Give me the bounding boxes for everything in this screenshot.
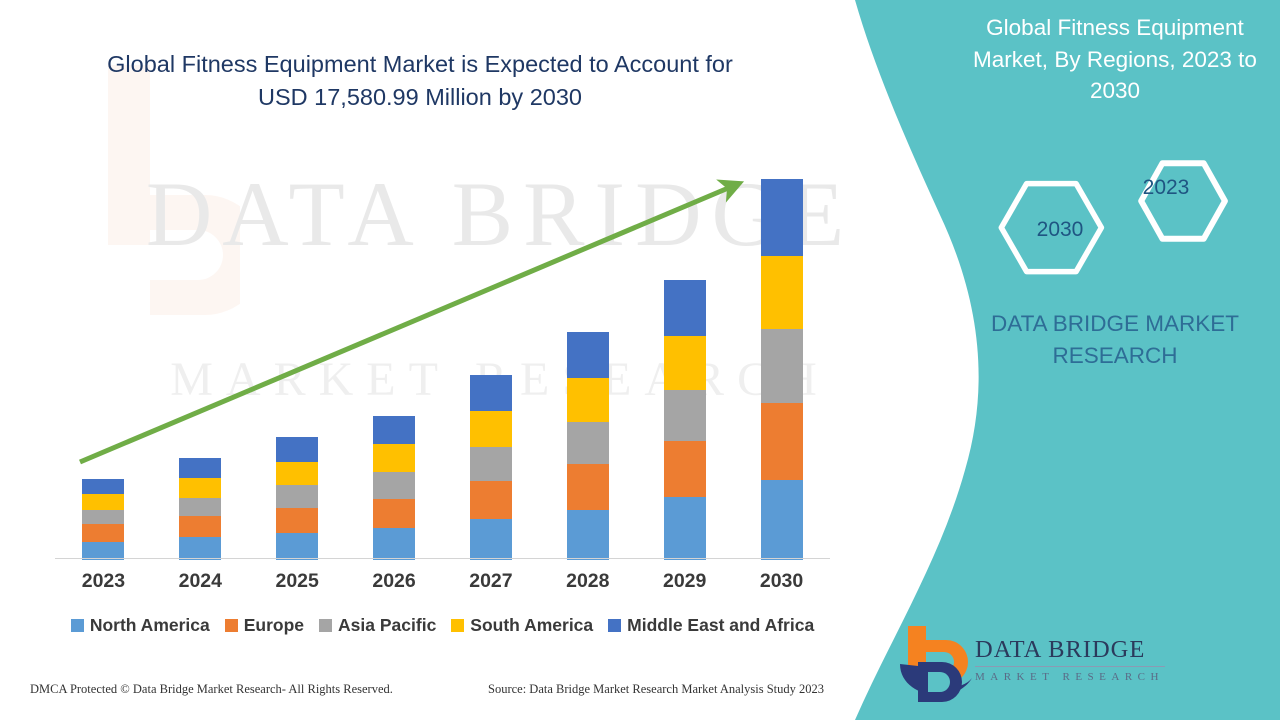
brand-name: DATA BRIDGE MARKET RESEARCH [960,308,1270,372]
bar-segment [276,485,318,508]
hexagon-outlines [960,150,1270,290]
x-axis-label-2026: 2026 [364,570,424,593]
logo-text-block: DATA BRIDGE MARKET RESEARCH [975,636,1195,683]
bar-segment [179,516,221,538]
bar-2023 [82,479,124,560]
legend-item[interactable]: Asia Pacific [319,615,436,636]
bar-2028 [567,332,609,560]
hexagon-label-2023: 2023 [1128,176,1204,200]
hexagon-label-2030: 2030 [1022,218,1098,242]
bar-segment [470,481,512,519]
bar-segment [567,464,609,510]
bar-segment [82,524,124,541]
bar-segment [761,403,803,480]
x-axis-line [55,558,830,559]
plot-area [55,150,830,560]
x-axis-labels: 20232024202520262027202820292030 [55,570,830,604]
x-axis-label-2027: 2027 [461,570,521,593]
bar-2025 [276,437,318,560]
bar-segment [276,533,318,560]
x-axis-label-2024: 2024 [170,570,230,593]
x-axis-label-2030: 2030 [752,570,812,593]
bar-segment [82,479,124,494]
footer: DMCA Protected © Data Bridge Market Rese… [0,682,880,706]
right-panel-content: Global Fitness Equipment Market, By Regi… [950,0,1280,720]
panel-title: Global Fitness Equipment Market, By Regi… [960,12,1270,107]
bar-segment [470,375,512,412]
bar-segment [761,329,803,403]
bar-2027 [470,375,512,561]
legend-item[interactable]: South America [451,615,593,636]
legend-item[interactable]: Middle East and Africa [608,615,814,636]
bar-segment [373,416,415,445]
logo-subtitle: MARKET RESEARCH [975,671,1195,683]
bar-segment [761,480,803,560]
legend-swatch-icon [71,619,84,632]
bar-2029 [664,280,706,560]
chart-legend: North AmericaEuropeAsia PacificSouth Ame… [55,615,830,636]
bar-segment [179,498,221,516]
footer-source: Source: Data Bridge Market Research Mark… [488,682,824,697]
bar-segment [179,537,221,560]
bar-2024 [179,458,221,560]
bar-segment [373,499,415,529]
footer-copyright: DMCA Protected © Data Bridge Market Rese… [30,682,393,697]
bar-segment [82,510,124,524]
bar-segment [276,462,318,486]
bar-segment [761,256,803,330]
data-bridge-logo: DATA BRIDGE MARKET RESEARCH [890,620,1190,710]
bar-segment [82,494,124,509]
x-axis-label-2025: 2025 [267,570,327,593]
bar-segment [276,437,318,462]
bar-segment [373,444,415,472]
x-axis-label-2029: 2029 [655,570,715,593]
hexagon-2023 [1141,163,1225,239]
year-hexagons: 2023 2030 [960,150,1270,290]
legend-swatch-icon [451,619,464,632]
bar-segment [470,519,512,560]
legend-label: Middle East and Africa [627,615,814,636]
bar-segment [470,411,512,447]
x-axis-label-2023: 2023 [73,570,133,593]
bar-2030 [761,179,803,560]
bar-segment [567,510,609,560]
bar-segment [761,179,803,256]
bar-segment [664,390,706,441]
bar-segment [179,458,221,479]
bar-segment [470,447,512,481]
bar-segment [373,528,415,560]
page-title: Global Fitness Equipment Market is Expec… [80,48,760,115]
bar-segment [567,422,609,464]
x-axis-label-2028: 2028 [558,570,618,593]
chart-panel: DATA BRIDGE MARKET RESEARCH Global Fitne… [0,0,880,720]
bar-2026 [373,416,415,560]
logo-title: DATA BRIDGE [975,636,1195,664]
bar-segment [567,332,609,377]
legend-label: North America [90,615,210,636]
bar-segment [664,497,706,560]
bar-segment [179,478,221,497]
legend-swatch-icon [225,619,238,632]
legend-item[interactable]: North America [71,615,210,636]
legend-label: Asia Pacific [338,615,436,636]
legend-label: Europe [244,615,304,636]
bar-segment [276,508,318,534]
bar-segment [664,336,706,390]
bar-segment [664,280,706,335]
legend-item[interactable]: Europe [225,615,304,636]
bar-segment [567,378,609,422]
logo-divider [975,666,1165,667]
legend-swatch-icon [608,619,621,632]
bar-segment [373,472,415,499]
legend-swatch-icon [319,619,332,632]
legend-label: South America [470,615,593,636]
bar-segment [664,441,706,497]
